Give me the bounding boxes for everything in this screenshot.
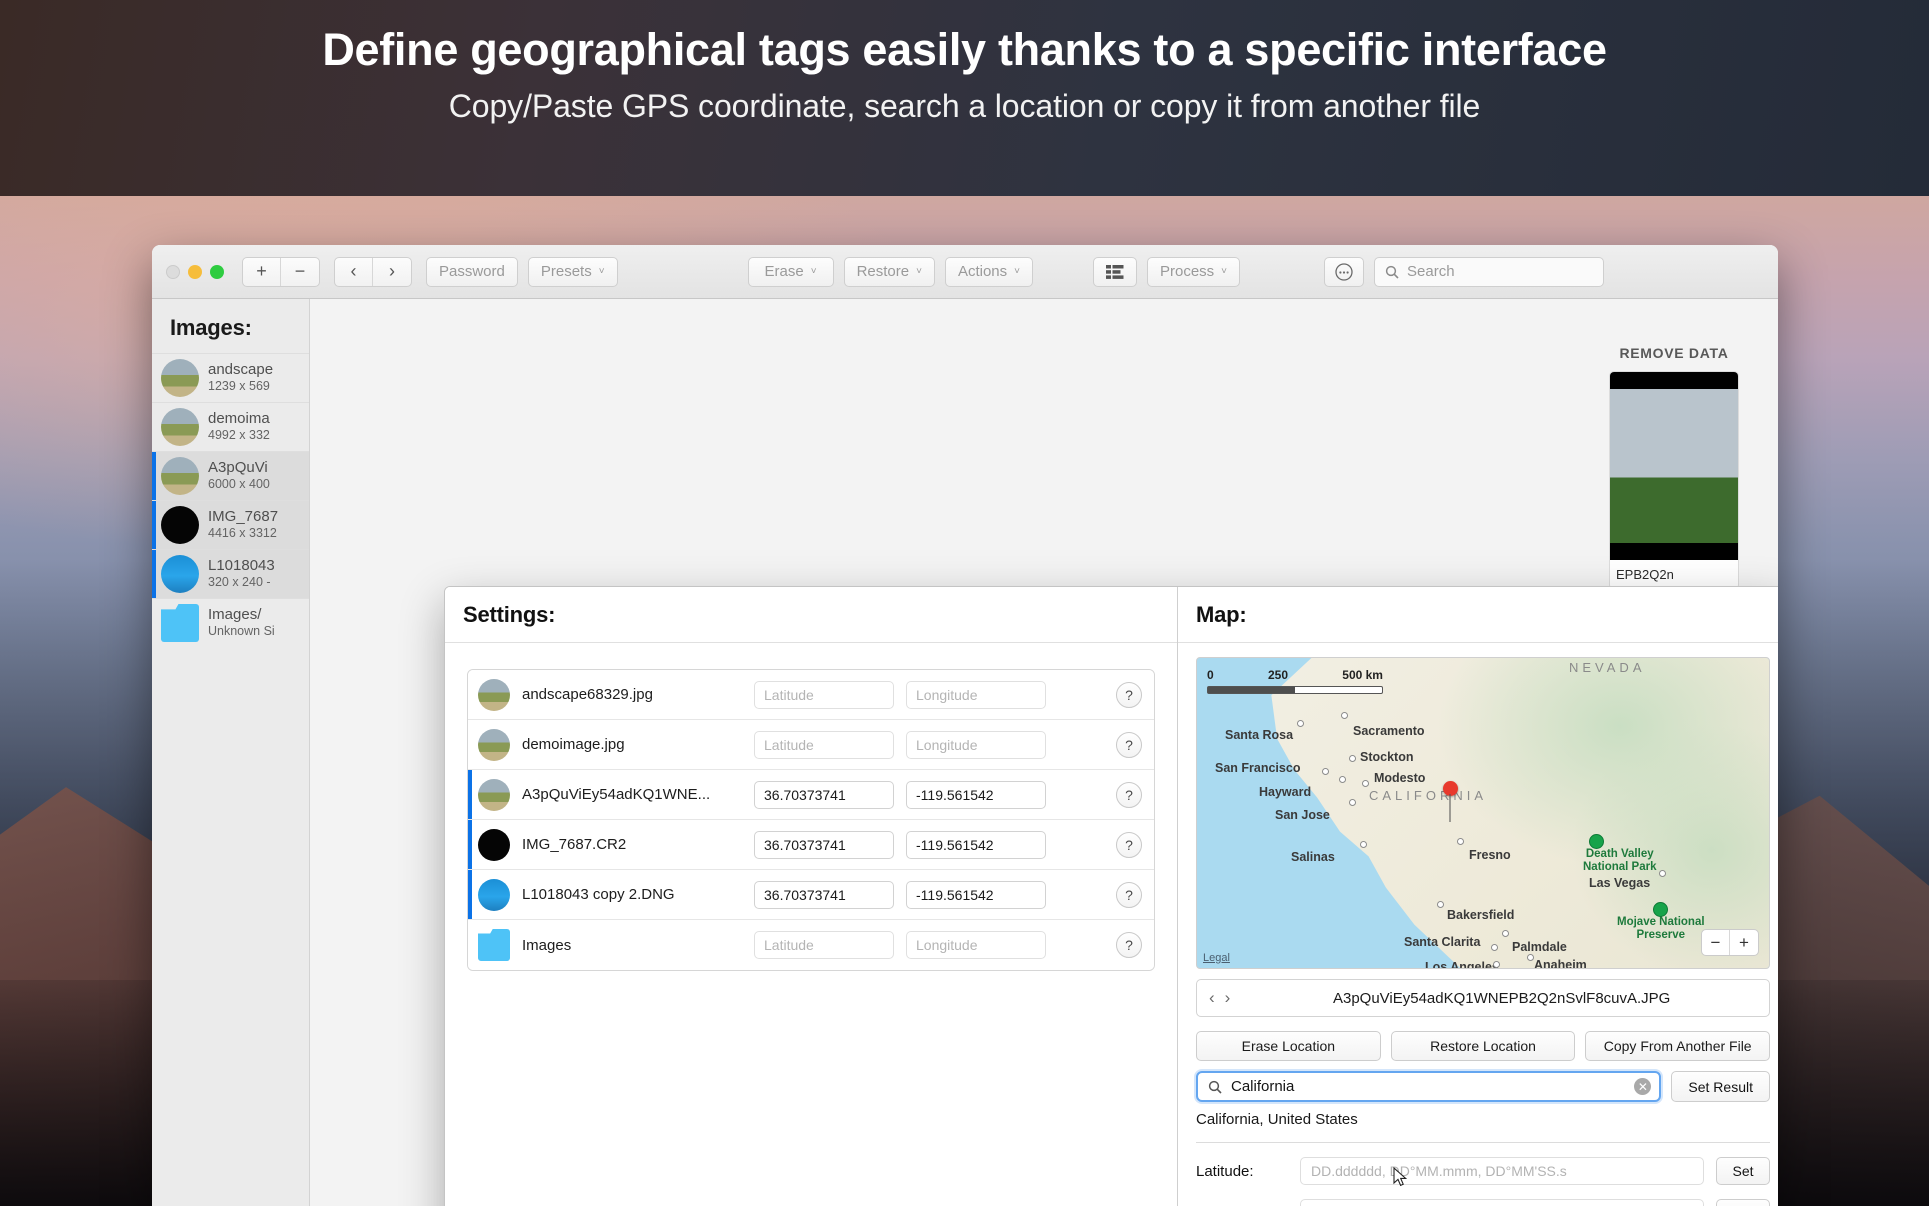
password-button[interactable]: Password [426, 257, 518, 287]
sidebar-item-name: andscape [208, 362, 273, 379]
settings-pane: Settings: andscape68329.jpgLatitudeLongi… [445, 587, 1178, 1206]
map-zoom-controls[interactable]: − + [1701, 929, 1759, 956]
map-city-label: Anaheim [1534, 958, 1587, 969]
forward-button[interactable]: › [373, 258, 411, 286]
erase-button[interactable]: Erase ˅ [748, 257, 834, 287]
help-icon[interactable]: ? [1116, 832, 1142, 858]
sidebar-item-dimensions: 4992 x 332 [208, 427, 270, 443]
map-city-dot [1659, 870, 1666, 877]
window-controls[interactable] [166, 265, 224, 279]
preview-photo [1610, 372, 1738, 560]
sidebar-item-text: andscape1239 x 569 [208, 362, 273, 395]
map-city-label: Bakersfield [1447, 908, 1514, 922]
search-input[interactable]: Search [1374, 257, 1604, 287]
sidebar-item-name: Images/ [208, 607, 275, 624]
search-result-text: California, United States [1196, 1111, 1770, 1128]
navigation-group[interactable]: ‹ › [334, 257, 412, 287]
map-city-label: Salinas [1291, 850, 1335, 864]
latitude-field[interactable]: 36.70373741 [754, 781, 894, 809]
set-button[interactable]: Set [1716, 1199, 1770, 1206]
mouse-cursor [1393, 1167, 1407, 1187]
file-name: demoimage.jpg [522, 736, 742, 753]
map-city-dot [1322, 768, 1329, 775]
sidebar-item-5[interactable]: Images/Unknown Si [152, 598, 309, 647]
dialog-main: Settings: andscape68329.jpgLatitudeLongi… [445, 587, 1778, 1206]
folder-icon [161, 604, 199, 642]
map-city-label: Santa Rosa [1225, 728, 1293, 742]
table-row[interactable]: A3pQuViEy54adKQ1WNE...36.70373741-119.56… [468, 770, 1154, 820]
longitude-field[interactable]: Longitude [906, 681, 1046, 709]
banner-title: Define geographical tags easily thanks t… [0, 24, 1929, 76]
map-city-label: Hayward [1259, 785, 1311, 799]
presets-button[interactable]: Presets ˅ [528, 257, 618, 287]
search-icon [1208, 1080, 1222, 1094]
sidebar-item-name: demoima [208, 411, 270, 428]
map-city-dot [1360, 841, 1367, 848]
add-remove-group[interactable]: + − [242, 257, 320, 287]
map-city-dot [1349, 799, 1356, 806]
sidebar-item-3[interactable]: IMG_76874416 x 3312 [152, 500, 309, 549]
sidebar-item-text: L1018043320 x 240 - [208, 558, 275, 591]
chevron-down-icon: ˅ [599, 266, 605, 277]
coordinate-row: Longitude:DD.dddddd, DD°MM.mmm, DD°MM'SS… [1196, 1199, 1770, 1206]
copy-from-another-file-button[interactable]: Copy From Another File [1585, 1031, 1770, 1061]
file-navigator[interactable]: ‹ › A3pQuViEy54adKQ1WNEPB2Q2nSvlF8cuvA.J… [1196, 979, 1770, 1017]
latitude-field[interactable]: Latitude [754, 931, 894, 959]
presets-label: Presets [541, 263, 592, 280]
table-row[interactable]: IMG_7687.CR236.70373741-119.561542? [468, 820, 1154, 870]
map-body: NEVADACALIFORNIASanta RosaSacramentoStoc… [1178, 643, 1778, 1206]
search-placeholder-text: Search [1407, 263, 1455, 280]
map-city-dot [1362, 780, 1369, 787]
window-toolbar: + − ‹ › Password Presets ˅ Erase ˅ Resto… [152, 245, 1778, 299]
thumbnail-image [478, 679, 510, 711]
location-search-value: California [1231, 1078, 1625, 1095]
map-city-label: San Francisco [1215, 761, 1300, 775]
latitude-field[interactable]: 36.70373741 [754, 881, 894, 909]
geotag-dialog: Settings: andscape68329.jpgLatitudeLongi… [444, 586, 1778, 1206]
sidebar-item-text: Images/Unknown Si [208, 607, 275, 640]
longitude-field[interactable]: -119.561542 [906, 831, 1046, 859]
scale-bar-graphic [1207, 686, 1383, 694]
sidebar-item-dimensions: 320 x 240 - [208, 574, 275, 590]
map-city-dot [1339, 776, 1346, 783]
erase-label: Erase [765, 263, 804, 280]
file-name: L1018043 copy 2.DNG [522, 886, 742, 903]
map-zoom-out-button[interactable]: − [1702, 930, 1730, 955]
map-park-label: Death ValleyNational Park [1583, 848, 1657, 874]
scale-right-label: 500 km [1342, 668, 1383, 682]
help-icon[interactable]: ? [1116, 882, 1142, 908]
geo-search-row[interactable]: California ✕ Set Result [1196, 1071, 1770, 1102]
chevron-down-icon: ˅ [1221, 266, 1227, 277]
chevron-down-icon: ˅ [916, 266, 922, 277]
map-canvas[interactable]: NEVADACALIFORNIASanta RosaSacramentoStoc… [1196, 657, 1770, 969]
longitude-input[interactable]: DD.dddddd, DD°MM.mmm, DD°MM'SS.s [1300, 1199, 1704, 1206]
search-icon [1385, 265, 1399, 279]
map-city-label: San Jose [1275, 808, 1330, 822]
window-body: Images: andscape1239 x 569demoima4992 x … [152, 299, 1778, 1206]
map-city-dot [1502, 930, 1509, 937]
coordinate-label: Latitude: [1196, 1163, 1288, 1180]
set-result-button[interactable]: Set Result [1671, 1071, 1770, 1102]
map-city-dot [1297, 720, 1304, 727]
table-row[interactable]: demoimage.jpgLatitudeLongitude? [468, 720, 1154, 770]
sidebar-item-name: IMG_7687 [208, 509, 278, 526]
coordinate-fields[interactable]: Latitude:DD.dddddd, DD°MM.mmm, DD°MM'SS.… [1196, 1157, 1770, 1206]
chevron-down-icon: ˅ [1014, 266, 1020, 277]
sidebar-item-dimensions: 4416 x 3312 [208, 525, 278, 541]
sidebar-item-name: A3pQuVi [208, 460, 270, 477]
park-pin-icon [1589, 834, 1604, 849]
map-location-pin[interactable] [1443, 781, 1458, 796]
map-legal-link[interactable]: Legal [1203, 952, 1230, 964]
remove-button[interactable]: − [281, 258, 319, 286]
settings-file-list[interactable]: andscape68329.jpgLatitudeLongitude?demoi… [467, 669, 1155, 971]
sidebar-item-2[interactable]: A3pQuVi6000 x 400 [152, 451, 309, 500]
map-pane: Map: NEVADACALIFORNIASanta RosaSacrament… [1178, 587, 1778, 1206]
table-row[interactable]: L1018043 copy 2.DNG36.70373741-119.56154… [468, 870, 1154, 920]
sidebar-item-dimensions: 1239 x 569 [208, 378, 273, 394]
map-park-label: Mojave NationalPreserve [1617, 916, 1705, 942]
thumbnail-image [161, 555, 199, 593]
help-icon[interactable]: ? [1116, 782, 1142, 808]
help-icon[interactable]: ? [1116, 732, 1142, 758]
settings-title: Settings: [445, 587, 1177, 643]
actions-button[interactable]: Actions ˅ [945, 257, 1033, 287]
map-city-label: Palmdale [1512, 940, 1567, 954]
latitude-field[interactable]: Latitude [754, 731, 894, 759]
latitude-field[interactable]: 36.70373741 [754, 831, 894, 859]
thumbnail-image [161, 506, 199, 544]
remove-data-card[interactable]: EPB2Q2n [1609, 371, 1739, 590]
folder-icon [478, 929, 510, 961]
password-label: Password [439, 263, 505, 280]
current-file-name: A3pQuViEy54adKQ1WNEPB2Q2nSvlF8cuvA.JPG [1246, 990, 1757, 1007]
location-search-input[interactable]: California ✕ [1196, 1071, 1661, 1102]
restore-button[interactable]: Restore ˅ [844, 257, 935, 287]
location-actions[interactable]: Erase LocationRestore LocationCopy From … [1196, 1031, 1770, 1061]
sidebar-item-text: IMG_76874416 x 3312 [208, 509, 278, 542]
scale-left-label: 0 [1207, 668, 1214, 682]
file-name: A3pQuViEy54adKQ1WNE... [522, 786, 742, 803]
section-divider [1196, 1142, 1770, 1143]
sidebar-item-text: A3pQuVi6000 x 400 [208, 460, 270, 493]
help-icon[interactable]: ? [1116, 932, 1142, 958]
map-state-label: NEVADA [1569, 660, 1646, 675]
add-button[interactable]: + [243, 258, 281, 286]
prev-file-button[interactable]: ‹ [1209, 988, 1215, 1008]
thumbnail-image [478, 729, 510, 761]
map-city-label: Modesto [1374, 771, 1425, 785]
file-nav-arrows[interactable]: ‹ › [1209, 988, 1230, 1008]
sidebar-item-0[interactable]: andscape1239 x 569 [152, 353, 309, 402]
sidebar-item-1[interactable]: demoima4992 x 332 [152, 402, 309, 451]
process-button[interactable]: Process ˅ [1147, 257, 1240, 287]
remove-data-header: REMOVE DATA [1619, 345, 1728, 361]
longitude-field[interactable]: -119.561542 [906, 881, 1046, 909]
table-row[interactable]: andscape68329.jpgLatitudeLongitude? [468, 670, 1154, 720]
images-sidebar: Images: andscape1239 x 569demoima4992 x … [152, 299, 310, 1206]
map-city-dot [1349, 755, 1356, 762]
minimize-window-button[interactable] [188, 265, 202, 279]
actions-label: Actions [958, 263, 1007, 280]
longitude-field[interactable]: -119.561542 [906, 781, 1046, 809]
next-file-button[interactable]: › [1225, 988, 1231, 1008]
coordinate-row: Latitude:DD.dddddd, DD°MM.mmm, DD°MM'SS.… [1196, 1157, 1770, 1185]
map-city-label: Los Angeles [1425, 960, 1499, 969]
thumbnail-image [478, 829, 510, 861]
scale-mid-label: 250 [1268, 668, 1288, 682]
sidebar-item-4[interactable]: L1018043320 x 240 - [152, 549, 309, 598]
more-options-button[interactable] [1324, 257, 1364, 287]
longitude-field[interactable]: Longitude [906, 731, 1046, 759]
help-icon[interactable]: ? [1116, 682, 1142, 708]
chevron-down-icon: ˅ [811, 266, 817, 277]
erase-location-button[interactable]: Erase Location [1196, 1031, 1381, 1061]
set-button[interactable]: Set [1716, 1157, 1770, 1185]
file-name: IMG_7687.CR2 [522, 836, 742, 853]
thumbnail-image [161, 359, 199, 397]
promo-banner: Define geographical tags easily thanks t… [0, 0, 1929, 196]
map-city-dot [1527, 954, 1534, 961]
park-pin-icon [1653, 902, 1668, 917]
map-title: Map: [1178, 587, 1778, 643]
sidebar-item-dimensions: Unknown Si [208, 623, 275, 639]
ellipsis-circle-icon [1334, 262, 1354, 282]
list-icon [1106, 264, 1124, 280]
map-zoom-in-button[interactable]: + [1730, 930, 1758, 955]
back-button[interactable]: ‹ [335, 258, 373, 286]
map-city-label: Sacramento [1353, 724, 1425, 738]
map-scale-bar: 0 250 500 km [1207, 668, 1383, 694]
thumbnail-image [161, 408, 199, 446]
map-city-dot [1457, 838, 1464, 845]
thumbnail-image [478, 879, 510, 911]
map-state-label: CALIFORNIA [1369, 788, 1487, 803]
map-city-dot [1493, 961, 1500, 968]
sidebar-title: Images: [152, 299, 309, 353]
clear-icon[interactable]: ✕ [1634, 1078, 1651, 1095]
restore-label: Restore [857, 263, 910, 280]
map-city-label: Fresno [1469, 848, 1511, 862]
sidebar-item-name: L1018043 [208, 558, 275, 575]
thumbnail-image [478, 779, 510, 811]
map-city-dot [1437, 901, 1444, 908]
map-city-dot [1491, 944, 1498, 951]
app-window: + − ‹ › Password Presets ˅ Erase ˅ Resto… [152, 245, 1778, 1206]
longitude-field[interactable]: Longitude [906, 931, 1046, 959]
sidebar-item-dimensions: 6000 x 400 [208, 476, 270, 492]
sidebar-item-text: demoima4992 x 332 [208, 411, 270, 444]
banner-subtitle: Copy/Paste GPS coordinate, search a loca… [0, 88, 1929, 125]
zoom-window-button[interactable] [210, 265, 224, 279]
map-city-label: Las Vegas [1589, 876, 1650, 890]
latitude-input[interactable]: DD.dddddd, DD°MM.mmm, DD°MM'SS.s [1300, 1157, 1704, 1185]
sidebar-item-list[interactable]: andscape1239 x 569demoima4992 x 332A3pQu… [152, 353, 309, 647]
restore-location-button[interactable]: Restore Location [1391, 1031, 1576, 1061]
map-city-label: Santa Clarita [1404, 935, 1480, 949]
table-row[interactable]: ImagesLatitudeLongitude? [468, 920, 1154, 970]
map-city-label: Stockton [1360, 750, 1413, 764]
latitude-field[interactable]: Latitude [754, 681, 894, 709]
preview-photo-caption: EPB2Q2n [1610, 560, 1738, 589]
close-window-button[interactable] [166, 265, 180, 279]
map-city-dot [1341, 712, 1348, 719]
process-label: Process [1160, 263, 1214, 280]
thumbnail-image [161, 457, 199, 495]
file-name: andscape68329.jpg [522, 686, 742, 703]
list-view-button[interactable] [1093, 257, 1137, 287]
file-name: Images [522, 937, 742, 954]
